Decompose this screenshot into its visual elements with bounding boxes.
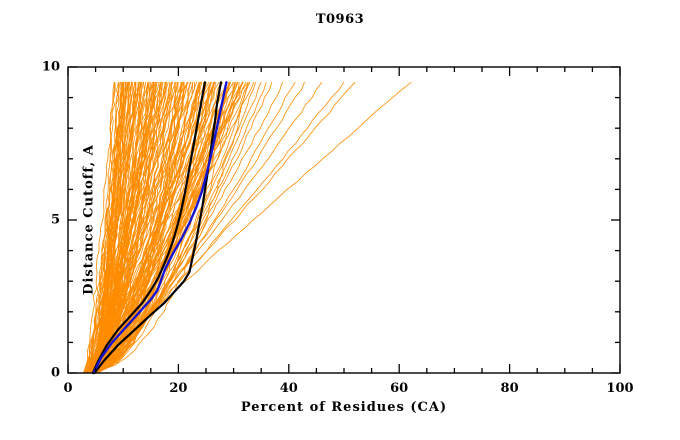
ensemble-curves-layer <box>83 82 411 373</box>
y-axis-label: Distance Cutoff, A <box>82 65 97 375</box>
y-tick-label: 10 <box>0 60 60 75</box>
x-tick-label: 60 <box>390 381 408 396</box>
x-tick-label: 80 <box>501 381 519 396</box>
x-axis-label: Percent of Residues (CA) <box>68 400 620 415</box>
x-tick-label: 0 <box>63 381 72 396</box>
y-tick-label: 5 <box>0 213 60 228</box>
chart-page: T0963 Percent of Residues (CA) Distance … <box>0 0 680 440</box>
x-tick-label: 40 <box>280 381 298 396</box>
y-tick-label: 0 <box>0 366 60 381</box>
x-tick-label: 20 <box>169 381 187 396</box>
chart-canvas <box>0 0 680 440</box>
x-tick-label: 100 <box>606 381 633 396</box>
